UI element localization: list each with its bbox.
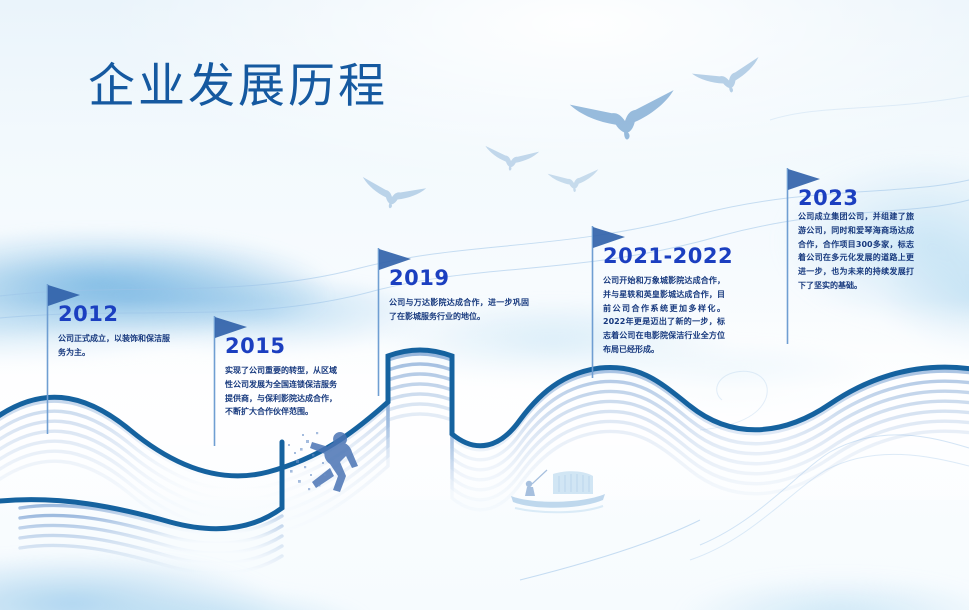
infographic-canvas: 企业发展历程 2012公司正式成立，以装饰和保洁服务为主。2015实现了公司重要… xyxy=(0,0,969,610)
milestone-year: 2012 xyxy=(58,302,118,326)
bird-icon xyxy=(686,51,772,110)
milestone-year: 2021-2022 xyxy=(603,244,733,268)
milestone-year: 2019 xyxy=(389,266,449,290)
bird-icon xyxy=(478,142,543,180)
milestone-description: 公司开始和万象城影院达成合作，并与星轶和英皇影城达成合作，目前公司合作系统更加多… xyxy=(603,274,725,357)
page-title: 企业发展历程 xyxy=(88,62,388,111)
milestone-description: 公司正式成立，以装饰和保洁服务为主。 xyxy=(58,332,170,360)
milestone-description: 公司与万达影院达成合作，进一步巩固了在影城服务行业的地位。 xyxy=(389,296,529,324)
milestone-year: 2023 xyxy=(798,186,858,210)
bird-icon xyxy=(352,172,431,222)
milestone-description: 公司成立集团公司，并组建了旅游公司，同时和爱琴海商场达成合作，合作项目300多家… xyxy=(798,210,914,293)
milestone-year: 2015 xyxy=(225,334,285,358)
bird-icon xyxy=(544,166,604,201)
milestone-description: 实现了公司重要的转型，从区域性公司发展为全国连锁保洁服务提供商，与保利影院达成合… xyxy=(225,364,337,419)
timeline-ribbon xyxy=(0,330,969,610)
bird-icon xyxy=(561,82,688,160)
